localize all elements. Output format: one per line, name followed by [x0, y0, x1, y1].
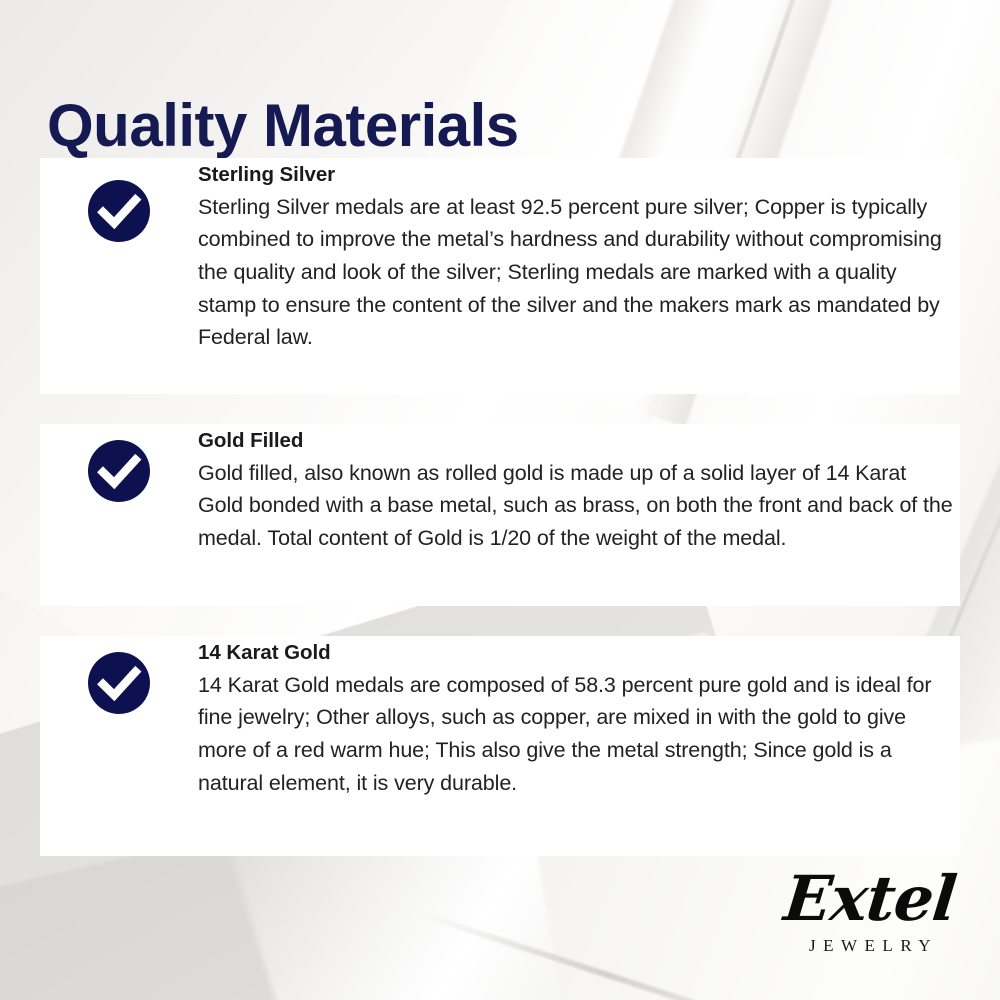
brand-logo: Extel JEWELRY: [770, 866, 970, 976]
page-title: Quality Materials: [47, 92, 519, 159]
material-card-text: Gold filled, also known as rolled gold i…: [198, 456, 954, 555]
material-card-heading: Gold Filled: [198, 424, 954, 456]
material-card: Gold Filled Gold filled, also known as r…: [40, 424, 960, 606]
material-card-body: Gold Filled Gold filled, also known as r…: [198, 424, 954, 555]
material-card-body: Sterling Silver Sterling Silver medals a…: [198, 158, 954, 354]
material-card: 14 Karat Gold 14 Karat Gold medals are c…: [40, 636, 960, 856]
check-circle-icon: [88, 652, 150, 714]
material-card-heading: 14 Karat Gold: [198, 636, 954, 668]
brand-logo-script: Extel: [767, 868, 974, 930]
check-circle-icon: [88, 440, 150, 502]
check-circle-icon: [88, 180, 150, 242]
material-card-text: 14 Karat Gold medals are composed of 58.…: [198, 668, 954, 800]
material-card-text: Sterling Silver medals are at least 92.5…: [198, 190, 954, 354]
material-card-body: 14 Karat Gold 14 Karat Gold medals are c…: [198, 636, 954, 799]
brand-logo-wordmark: JEWELRY: [770, 936, 970, 956]
material-card: Sterling Silver Sterling Silver medals a…: [40, 158, 960, 394]
poster-canvas: Quality Materials Sterling Silver Sterli…: [0, 0, 1000, 1000]
material-card-heading: Sterling Silver: [198, 158, 954, 190]
background-bottom-right-line: [422, 912, 823, 1000]
